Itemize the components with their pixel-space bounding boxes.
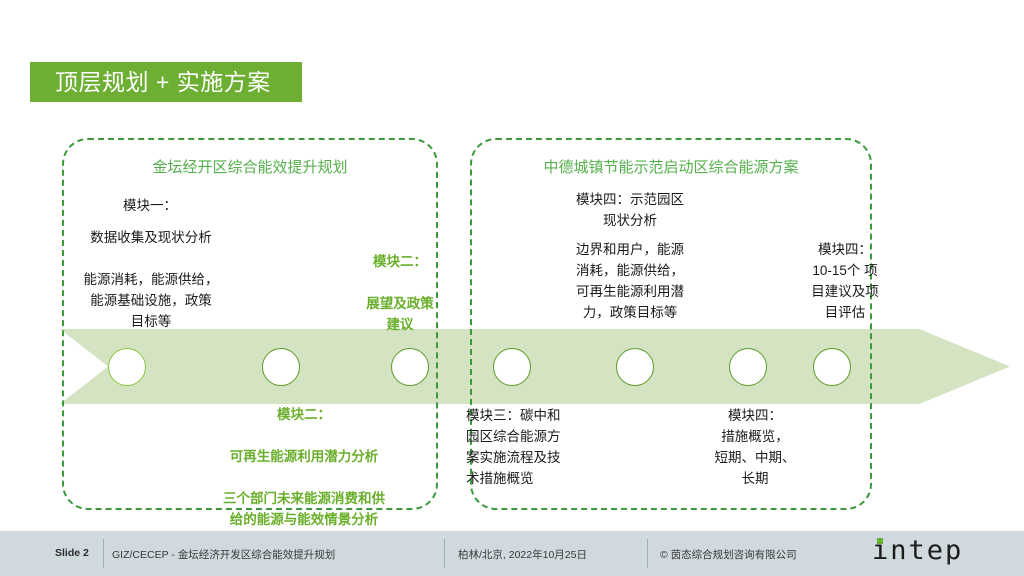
intep-logo: intep xyxy=(872,533,982,569)
module1-title: 模块一： xyxy=(60,196,240,217)
footer-copyright: © 茵态综合规划咨询有限公司 xyxy=(660,547,797,562)
footer-project-title: GIZ/CECEP - 金坛经济开发区综合能效提升规划 xyxy=(112,547,335,562)
module4-measures: 模块四： 措施概览， 短期、中期、 长期 xyxy=(690,406,820,490)
module1-body: 数据收集及现状分析 能源消耗，能源供给， 能源基础设施，政策 目标等 xyxy=(46,228,256,333)
footer-slide-number: Slide 2 xyxy=(55,547,89,559)
module2-outlook: 模块二： 展望及政策 建议 xyxy=(352,252,448,336)
logo-text: intep xyxy=(872,535,963,566)
module2-renewables: 模块二： 可再生能源利用潜力分析 三个部门未来能源消费和供 给的能源与能效情景分… xyxy=(178,405,430,551)
module4-projects: 模块四： 10-15个 项 目建议及项 目评估 xyxy=(790,240,900,324)
panel-left-heading: 金坛经开区综合能效提升规划 xyxy=(64,158,436,178)
slide-footer: Slide 2 GIZ/CECEP - 金坛经济开发区综合能效提升规划 柏林/北… xyxy=(0,531,1024,576)
footer-divider-1 xyxy=(103,539,104,568)
page-title: 顶层规划 + 实施方案 xyxy=(55,71,271,94)
panel-right-heading: 中德城镇节能示范启动区综合能源方案 xyxy=(472,158,870,178)
footer-divider-2 xyxy=(444,539,445,568)
module4-demo-title: 模块四：示范园区 现状分析 xyxy=(540,190,720,232)
slide-canvas: 顶层规划 + 实施方案 金坛经开区综合能效提升规划 中德城镇节能示范启动区综合能… xyxy=(0,0,1024,576)
logo-dot-icon xyxy=(877,538,883,544)
module4-demo-body: 边界和用户，能源 消耗，能源供给， 可再生能源利用潜 力，政策目标等 xyxy=(540,240,720,324)
footer-divider-3 xyxy=(647,539,648,568)
module3-carbon-neutral: 模块三：碳中和 园区综合能源方 案实施流程及技 术措施概览 xyxy=(466,406,606,490)
slide-title-banner: 顶层规划 + 实施方案 xyxy=(30,62,302,102)
footer-place-date: 柏林/北京, 2022年10月25日 xyxy=(458,547,587,562)
